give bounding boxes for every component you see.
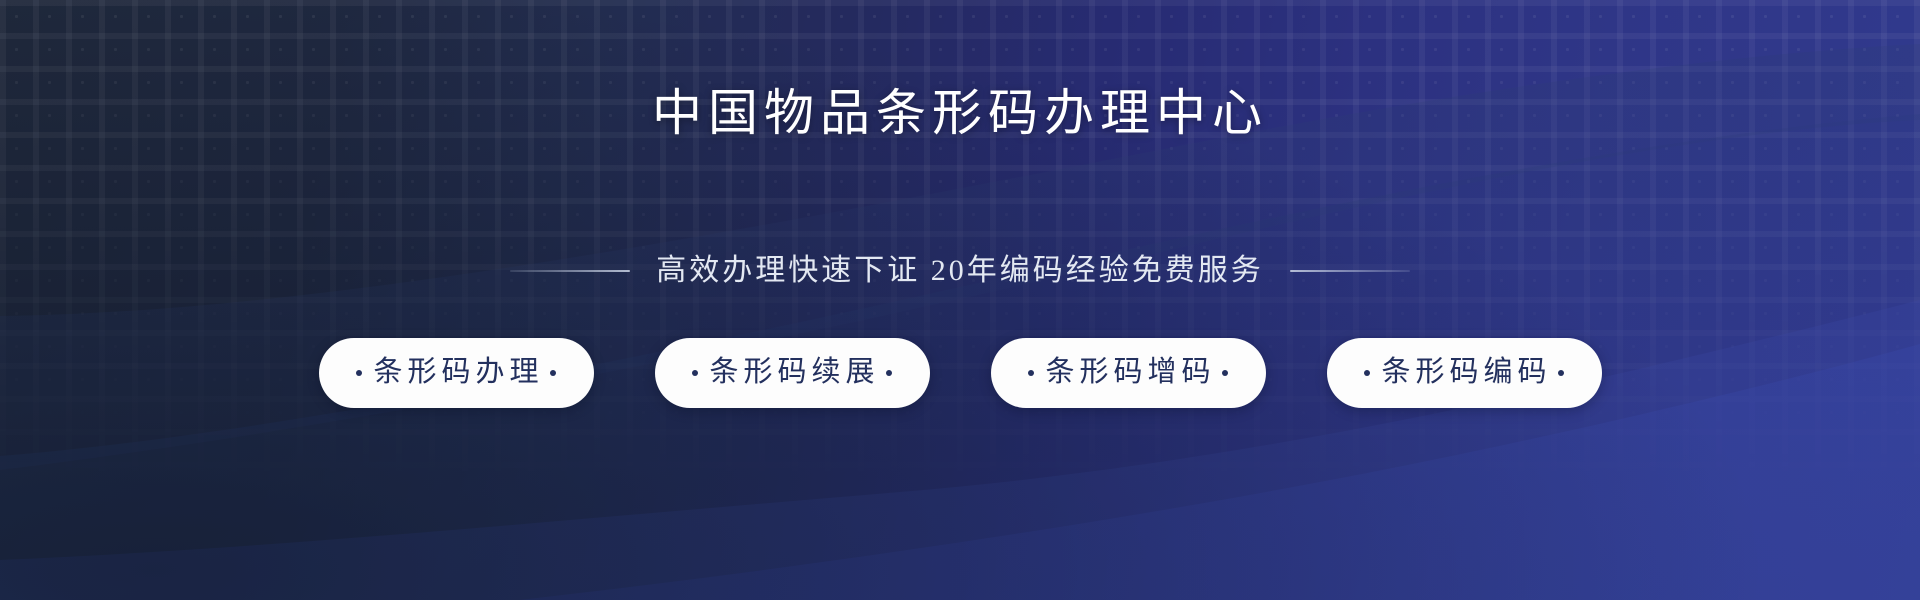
service-pill-barcode-addcode[interactable]: 条形码增码 bbox=[991, 338, 1266, 408]
banner-subtitle: 高效办理快速下证 20年编码经验免费服务 bbox=[656, 256, 1264, 286]
banner-title: 中国物品条形码办理中心 bbox=[652, 88, 1268, 138]
banner-content: 中国物品条形码办理中心 高效办理快速下证 20年编码经验免费服务 条形码办理 条… bbox=[0, 0, 1920, 600]
bullet-dot-icon bbox=[550, 370, 556, 376]
bullet-dot-icon bbox=[692, 370, 698, 376]
bullet-dot-icon bbox=[1558, 370, 1564, 376]
promo-banner: 中国物品条形码办理中心 高效办理快速下证 20年编码经验免费服务 条形码办理 条… bbox=[0, 0, 1920, 600]
subtitle-rule-right bbox=[1290, 270, 1410, 272]
subtitle-rule-left bbox=[510, 270, 630, 272]
service-pill-label: 条形码编码 bbox=[1376, 358, 1551, 387]
bullet-dot-icon bbox=[886, 370, 892, 376]
service-pill-label: 条形码办理 bbox=[368, 358, 543, 387]
service-pill-barcode-apply[interactable]: 条形码办理 bbox=[319, 338, 594, 408]
bullet-dot-icon bbox=[1028, 370, 1034, 376]
service-pill-list: 条形码办理 条形码续展 条形码增码 条形码编码 bbox=[319, 338, 1602, 408]
bullet-dot-icon bbox=[1364, 370, 1370, 376]
bullet-dot-icon bbox=[356, 370, 362, 376]
service-pill-label: 条形码增码 bbox=[1040, 358, 1215, 387]
banner-subtitle-row: 高效办理快速下证 20年编码经验免费服务 bbox=[510, 256, 1410, 286]
bullet-dot-icon bbox=[1222, 370, 1228, 376]
service-pill-barcode-encode[interactable]: 条形码编码 bbox=[1327, 338, 1602, 408]
service-pill-label: 条形码续展 bbox=[704, 358, 879, 387]
service-pill-barcode-renew[interactable]: 条形码续展 bbox=[655, 338, 930, 408]
